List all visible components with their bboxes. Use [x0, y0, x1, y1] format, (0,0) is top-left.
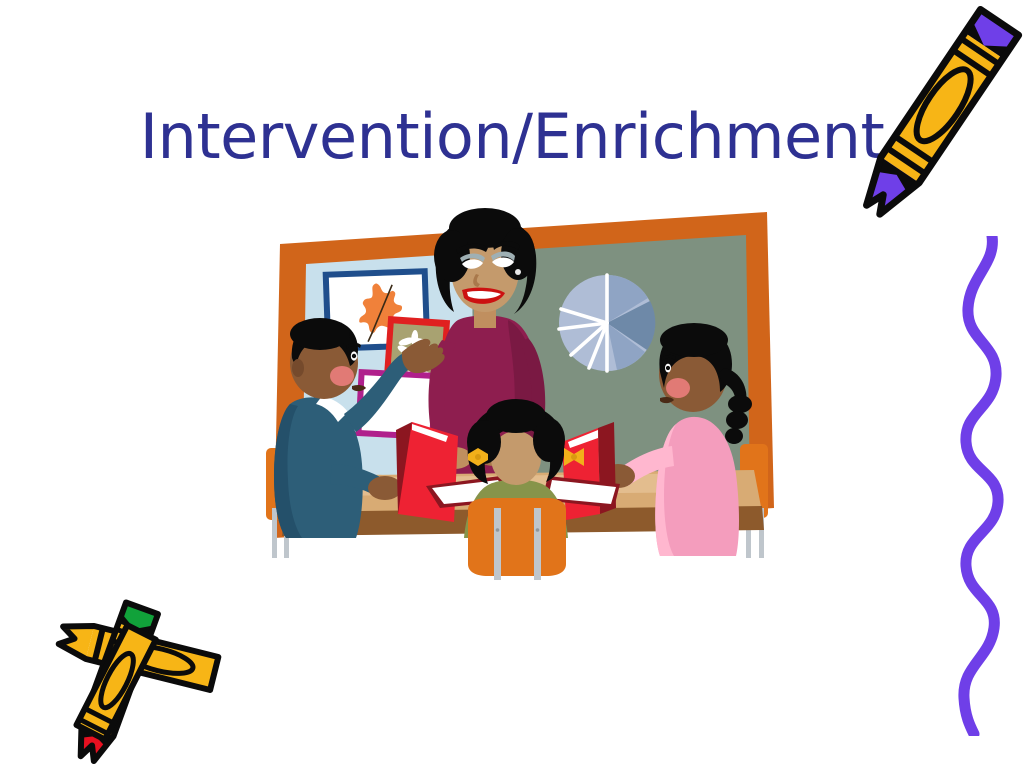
crayon-group-bottom-left: [28, 598, 233, 768]
chair-slat-right: [534, 508, 541, 580]
girl-cheek-blush: [666, 378, 690, 398]
pie-chart-diagram: [559, 275, 655, 371]
center-chair-back: [468, 498, 566, 576]
boy-cheek-blush: [330, 366, 354, 386]
classroom-illustration: [262, 208, 782, 590]
slide-canvas: Intervention/Enrichment: [0, 0, 1024, 768]
chair-slat-left: [494, 508, 501, 580]
squiggle-path: [964, 236, 998, 734]
boy-hand-on-book: [368, 476, 402, 500]
crayon-top-right: [838, 0, 1024, 246]
purple-squiggle-line: [946, 236, 1024, 736]
